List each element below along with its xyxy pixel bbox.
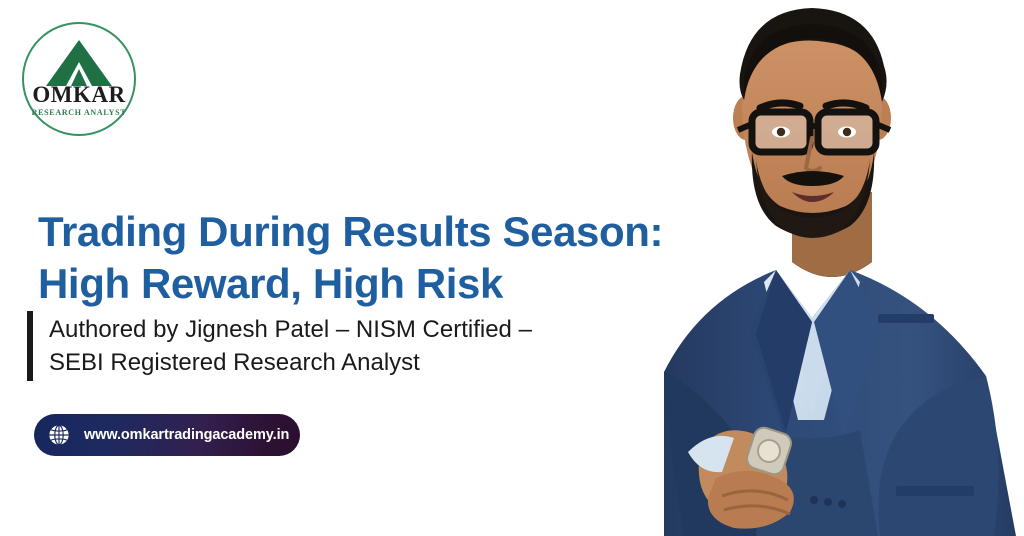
logo-wordmark: OMKAR bbox=[22, 82, 136, 108]
website-url-text: www.omkartradingacademy.in bbox=[84, 427, 289, 443]
author-accent-bar bbox=[27, 311, 33, 381]
page-title-line-1: Trading During Results Season: bbox=[38, 206, 738, 258]
author-byline-line-1: Authored by Jignesh Patel – NISM Certifi… bbox=[49, 313, 532, 346]
omkar-logo[interactable]: OMKAR RESEARCH ANALYST bbox=[22, 22, 136, 136]
article-banner: OMKAR RESEARCH ANALYST Trading During Re… bbox=[0, 0, 1024, 536]
globe-icon bbox=[48, 424, 70, 446]
mountain-peak-icon bbox=[22, 22, 136, 136]
author-byline: Authored by Jignesh Patel – NISM Certifi… bbox=[27, 311, 532, 381]
page-title-line-2: High Reward, High Risk bbox=[38, 258, 738, 310]
author-byline-text: Authored by Jignesh Patel – NISM Certifi… bbox=[49, 311, 532, 381]
logo-tagline: RESEARCH ANALYST bbox=[22, 108, 136, 117]
author-byline-line-2: SEBI Registered Research Analyst bbox=[49, 346, 532, 379]
website-url-pill[interactable]: www.omkartradingacademy.in bbox=[34, 414, 300, 456]
page-title: Trading During Results Season: High Rewa… bbox=[38, 206, 738, 310]
avatar bbox=[664, 0, 1024, 536]
